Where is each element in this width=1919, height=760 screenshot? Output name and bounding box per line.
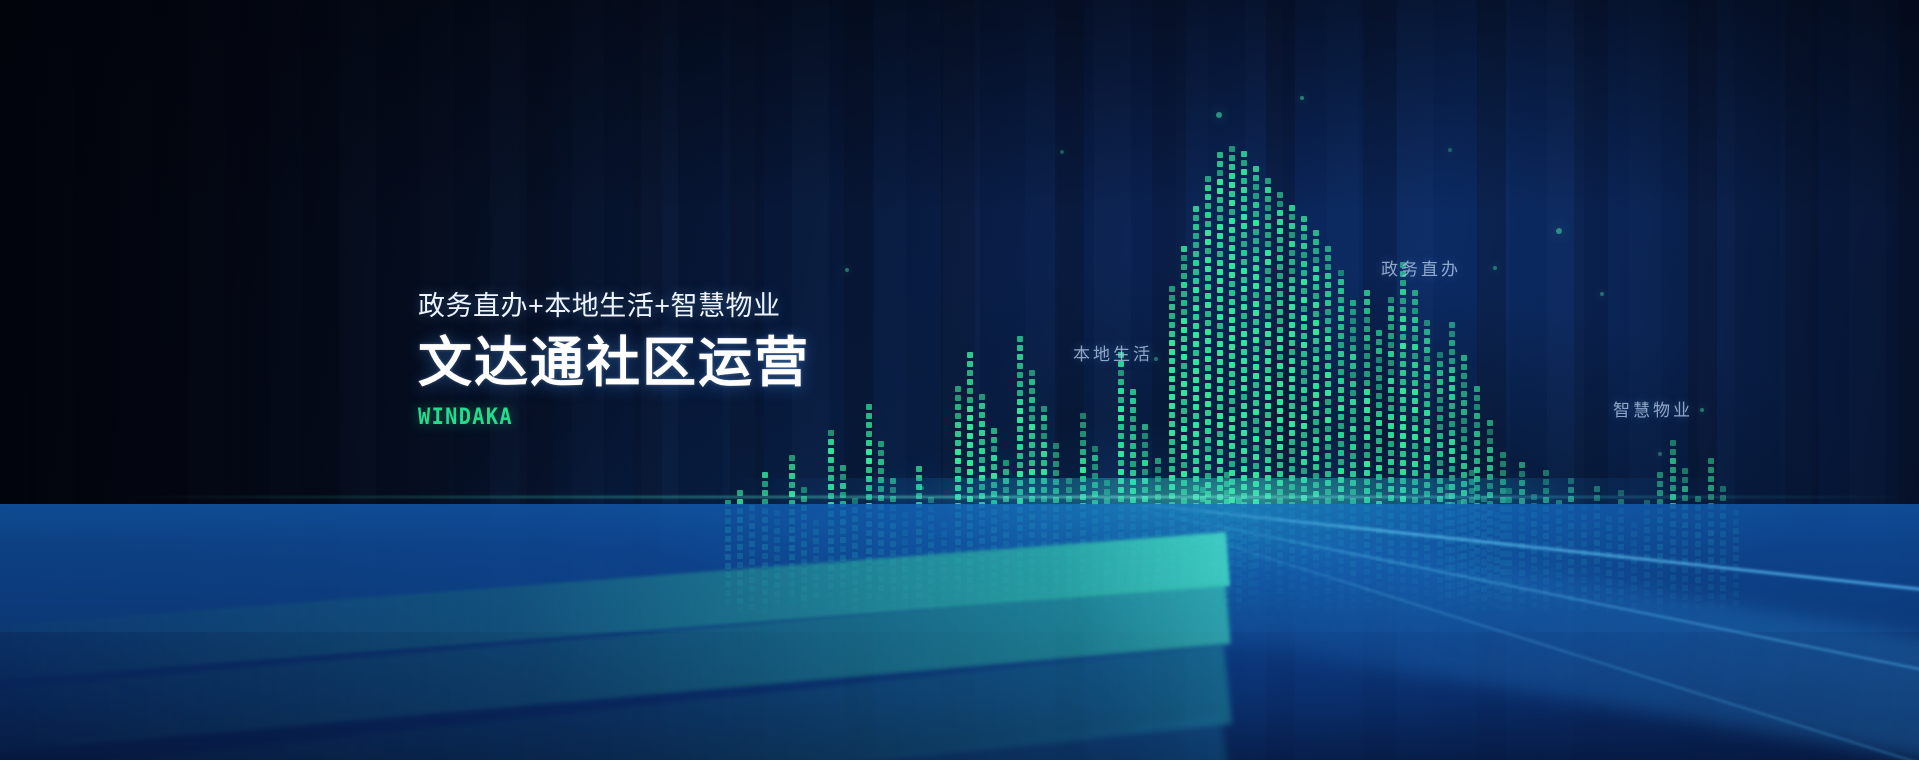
hero-banner: 政务直办本地生活智慧物业 政务直办+本地生活+智慧物业 文达通社区运营 WIND… [0,0,1919,760]
skyline-label-2: 智慧物业 [1613,396,1693,421]
banner-title: 文达通社区运营 [418,334,810,392]
banner-subtitle: 政务直办+本地生活+智慧物业 [418,290,810,322]
skyline-label-1: 本地生活 [1073,340,1153,365]
particle-field [0,0,1919,760]
particle-dot [1216,112,1222,118]
particle-dot [1493,266,1497,270]
particle-dot [1658,452,1662,456]
particle-dot [845,268,849,272]
particle-dot [1700,408,1704,412]
particle-dot [1300,96,1304,100]
particle-dot [1556,228,1562,234]
particle-dot [1060,150,1064,154]
skyline-label-0: 政务直办 [1381,255,1461,280]
headline-block: 政务直办+本地生活+智慧物业 文达通社区运营 WINDAKA [418,290,810,430]
particle-dot [1600,292,1604,296]
particle-dot [920,486,924,490]
particle-dot [1448,148,1452,152]
brand-wordmark: WINDAKA [418,405,779,430]
particle-dot [1154,357,1158,361]
